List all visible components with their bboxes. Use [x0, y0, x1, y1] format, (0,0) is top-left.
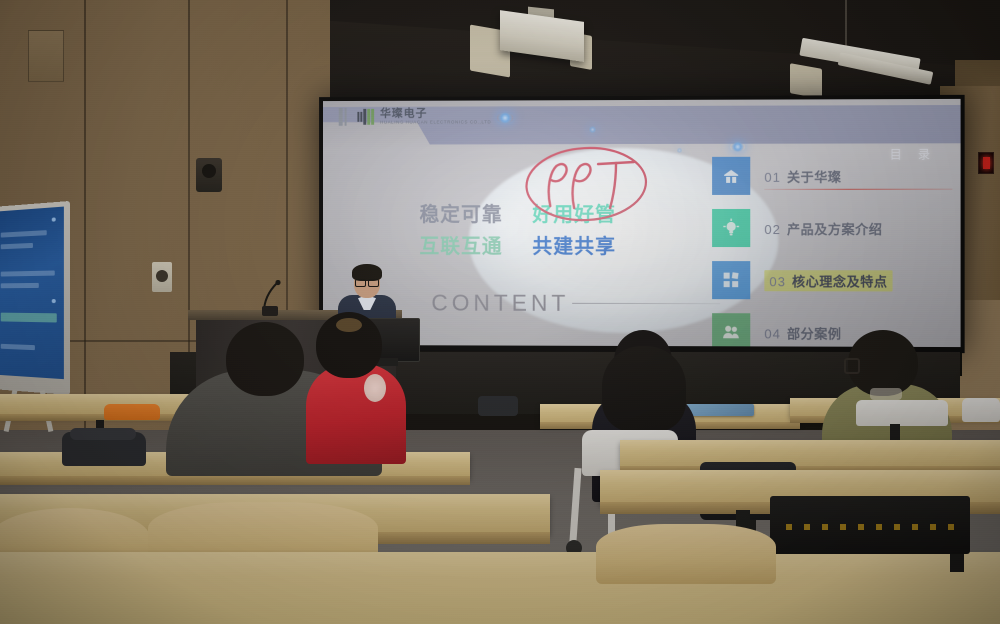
mount-plate-3: [790, 63, 822, 99]
light-glint-3: [730, 142, 745, 152]
desk-foreground: [0, 552, 1000, 624]
lecture-hall-photo: 华璨电子 HUALING HUACAN ELECTRONICS CO.,LTD …: [0, 0, 1000, 624]
side-display-screen: [0, 207, 64, 380]
content-label: CONTENT: [431, 290, 569, 317]
toc-item-03[interactable]: 03 核心理念及特点: [712, 260, 954, 301]
company-logo: 华璨电子 HUALING HUACAN ELECTRONICS CO.,LTD: [339, 107, 492, 125]
side-display[interactable]: [0, 201, 70, 395]
equipment-indicator-lights: [786, 524, 956, 530]
toc-label-03: 03 核心理念及特点: [764, 270, 892, 291]
attendee-red-torso: [306, 364, 406, 464]
light-support-rod: [845, 0, 847, 52]
microphone-base: [262, 306, 278, 316]
toc-label-01: 01 关于华璨: [764, 166, 841, 185]
attendee-red: [300, 312, 410, 462]
toc-text-01: 关于华璨: [787, 166, 841, 185]
wall-intercom[interactable]: [152, 262, 172, 292]
logo-bars-icon: [339, 108, 347, 126]
wall-speaker-cone-icon: [202, 164, 216, 178]
toc-num-03: 03: [769, 274, 786, 289]
attendee-grey-head: [226, 322, 304, 396]
attendee-olive-glasses-icon: [844, 358, 860, 374]
slogan-2: 互联互通: [419, 230, 502, 259]
toc-text-02: 产品及方案介绍: [787, 218, 882, 237]
orange-chair-back[interactable]: [104, 404, 160, 420]
toc-num-01: 01: [764, 169, 781, 184]
light-glint-2: [588, 126, 597, 133]
toc-num-02: 02: [764, 221, 781, 236]
desk-mid-right: [620, 440, 1000, 468]
toc-item-01[interactable]: 01 关于华璨: [712, 155, 954, 196]
toc-num-04: 04: [764, 326, 781, 341]
lightbulb-icon: [712, 209, 750, 247]
small-bag: [478, 396, 518, 416]
desk-mid-left-edge: [0, 476, 470, 485]
slide-toc: 01 关于华璨: [712, 155, 954, 347]
toc-item-02[interactable]: 02 产品及方案介绍: [712, 208, 954, 248]
light-glint-4: [676, 148, 683, 153]
wall-panel-insert: [28, 30, 64, 82]
logo-english-name: HUALING HUACAN ELECTRONICS CO.,LTD: [380, 121, 491, 126]
building-icon: [712, 157, 750, 195]
people-icon: [712, 313, 750, 347]
backpack-strap: [70, 428, 136, 440]
exit-sign: [978, 152, 994, 174]
attendee-red-collar-highlight: [364, 374, 386, 402]
attendee-black-hair: [602, 346, 686, 432]
attendee-olive-collar: [870, 388, 902, 400]
toc-underline-01: [764, 189, 952, 190]
attendee-red-hair-clip: [336, 318, 362, 332]
projection-screen: 华璨电子 HUALING HUACAN ELECTRONICS CO.,LTD …: [319, 95, 965, 353]
slogan-1: 稳定可靠: [419, 198, 502, 227]
grid-icon: [712, 261, 750, 299]
slogan-4: 共建共享: [532, 230, 616, 259]
light-glint-1: [497, 112, 514, 123]
toc-label-02: 02 产品及方案介绍: [764, 218, 882, 237]
logo-mark-icon: [357, 109, 374, 125]
chair-back-right-2[interactable]: [962, 398, 1000, 422]
toc-text-03: 核心理念及特点: [792, 271, 887, 290]
logo-chinese-name: 华璨电子: [380, 108, 491, 119]
presenter-glasses-icon: [355, 279, 379, 285]
notebook-on-desk[interactable]: [686, 404, 754, 416]
slogan-3: 好用好管: [532, 198, 616, 227]
foreground-chair-3[interactable]: [596, 524, 776, 584]
chair-back-right[interactable]: [856, 400, 948, 426]
slide-surface: 华璨电子 HUALING HUACAN ELECTRONICS CO.,LTD …: [323, 99, 961, 347]
